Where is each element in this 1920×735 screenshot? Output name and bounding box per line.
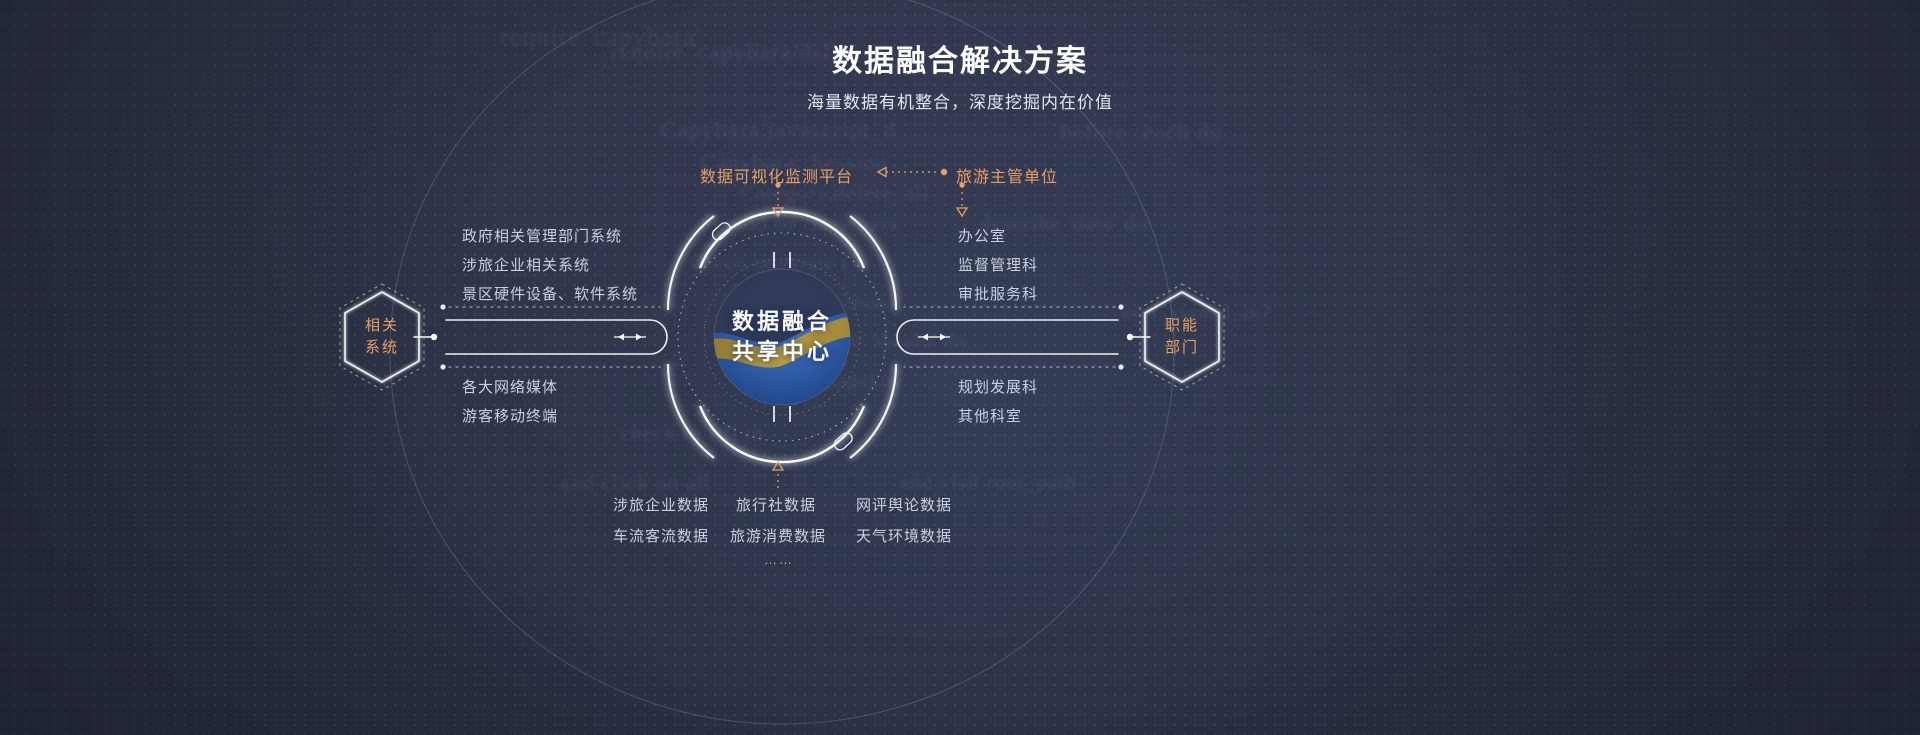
right-dept-label-3: 审批服务科 xyxy=(958,283,1038,304)
bottom-data-label-4: 车流客流数据 xyxy=(613,525,709,546)
center-sphere-label: 数据融合 共享中心 xyxy=(682,307,882,367)
bottom-data-label-6: 天气环境数据 xyxy=(856,525,952,546)
right-dept-label-5: 其他科室 xyxy=(958,405,1022,426)
center-label-line2: 共享中心 xyxy=(682,337,882,367)
hex-right-line2: 部门 xyxy=(1142,337,1222,359)
bottom-ellipsis: …… xyxy=(764,552,794,567)
bottom-data-label-3: 网评舆论数据 xyxy=(856,494,952,515)
node-tourism-authority[interactable]: 旅游主管单位 xyxy=(956,163,1058,187)
left-source-label-4: 各大网络媒体 xyxy=(462,376,558,397)
page-subtitle: 海量数据有机整合，深度挖掘内在价值 xyxy=(0,88,1920,113)
hero-banner: require 'capybara'require 'capybara/dsl'… xyxy=(0,0,1920,735)
left-source-label-5: 游客移动终端 xyxy=(462,405,558,426)
hex-left-line1: 相关 xyxy=(342,315,422,337)
left-source-label-1: 政府相关管理部门系统 xyxy=(462,225,622,246)
bottom-data-label-1: 涉旅企业数据 xyxy=(613,494,709,515)
hex-left-line2: 系统 xyxy=(342,337,422,359)
bottom-connector xyxy=(773,462,783,492)
hex-label-related-systems: 相关 系统 xyxy=(342,315,422,359)
right-dept-label-2: 监督管理科 xyxy=(958,254,1038,275)
right-dept-label-4: 规划发展科 xyxy=(958,376,1038,397)
flow-arrow-right xyxy=(918,334,950,341)
node-visualization-platform[interactable]: 数据可视化监测平台 xyxy=(700,163,853,187)
center-label-line1: 数据融合 xyxy=(682,307,882,337)
left-source-label-3: 景区硬件设备、软件系统 xyxy=(462,283,638,304)
flow-arrow-left xyxy=(614,334,646,341)
right-dept-label-1: 办公室 xyxy=(958,225,1006,246)
hex-right-line1: 职能 xyxy=(1142,315,1222,337)
page-title: 数据融合解决方案 xyxy=(0,36,1920,80)
left-source-label-2: 涉旅企业相关系统 xyxy=(462,254,590,275)
bottom-data-label-5: 旅游消费数据 xyxy=(730,525,826,546)
bottom-data-label-2: 旅行社数据 xyxy=(736,494,816,515)
hex-label-functional-departments: 职能 部门 xyxy=(1142,315,1222,359)
